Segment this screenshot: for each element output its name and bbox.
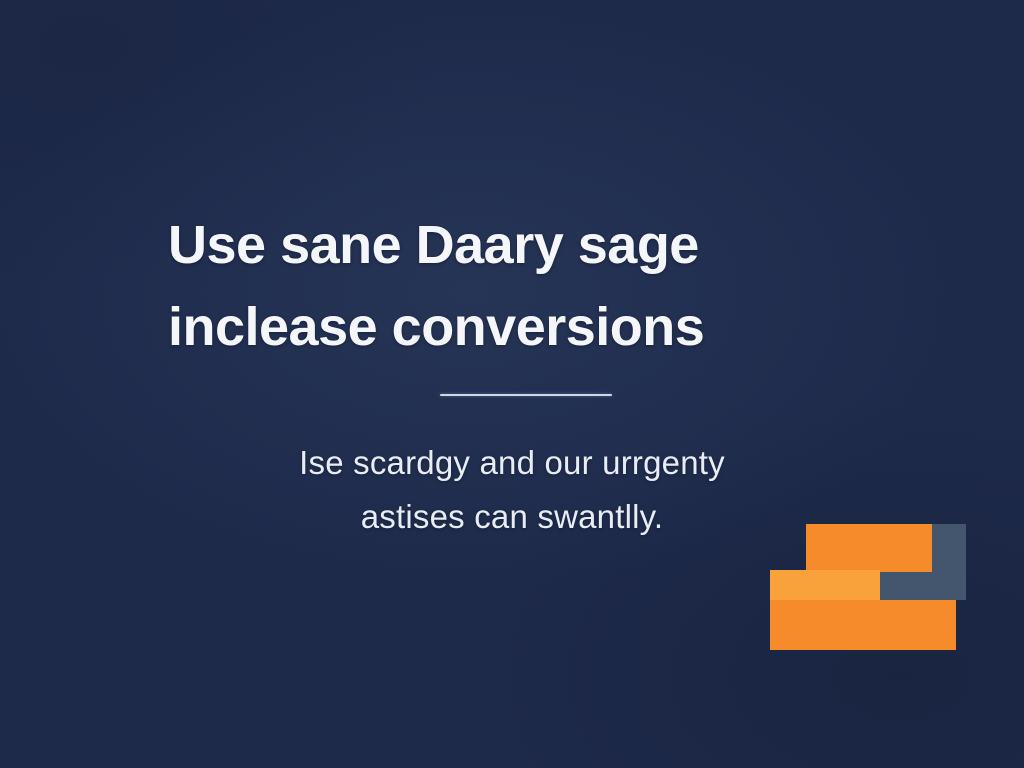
divider-rule	[440, 394, 612, 396]
logo-orange-middle-bar	[770, 570, 880, 600]
slide-content: Use sane Daary sage inclease conversions…	[0, 0, 1024, 768]
logo-slate-foot-block	[876, 570, 966, 600]
logo-orange-bottom-bar	[770, 600, 956, 650]
logo-orange-top-bar	[806, 524, 932, 572]
subtitle: Ise scardgy and our urrgenty astises can…	[162, 436, 862, 544]
presentation-slide: Use sane Daary sage inclease conversions…	[0, 0, 1024, 768]
subtitle-line-2: astises can swantlly.	[162, 490, 862, 544]
subtitle-line-1: Ise scardgy and our urrgenty	[162, 436, 862, 490]
headline-line-2: inclease conversions	[168, 286, 868, 368]
headline: Use sane Daary sage inclease conversions	[168, 204, 868, 368]
stacked-blocks-logo-icon	[768, 522, 968, 654]
headline-line-1: Use sane Daary sage	[168, 204, 868, 286]
